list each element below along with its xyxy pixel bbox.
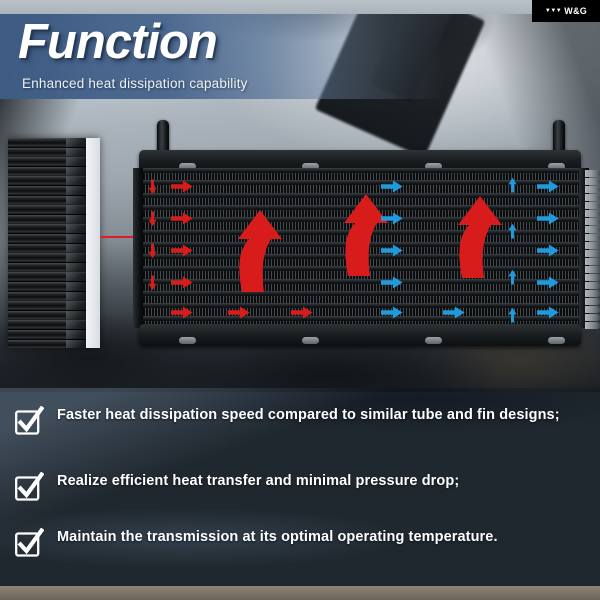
hot-flow-right-arrow [171,306,193,319]
external-fin-tooth [585,250,600,257]
bottom-tan-strip [0,586,600,600]
external-fin-tooth [585,258,600,265]
check-square-icon [14,528,44,558]
hot-air-rising-arrow [453,192,507,278]
top-grey-strip [0,0,600,14]
cool-flow-right-arrow [537,276,559,289]
cool-flow-up-arrow [502,178,524,193]
benefit-text: Faster heat dissipation speed compared t… [57,404,560,425]
bottom-mounting-bracket [139,324,581,346]
external-fin-tooth [585,322,600,329]
inlet-port [157,120,169,154]
cool-flow-right-arrow [381,306,403,319]
benefit-item: Realize efficient heat transfer and mini… [0,470,459,502]
cool-flow-up-arrow [502,270,524,285]
outlet-port [553,120,565,154]
hot-flow-down-arrow [142,276,164,291]
external-fin-tooth [585,298,600,305]
external-fin-tooth [585,274,600,281]
hot-flow-down-arrow [142,212,164,227]
page-subtitle: Enhanced heat dissipation capability [22,76,248,91]
external-fin-tooth [585,202,600,209]
bracket-mounting-slot [179,337,196,344]
hot-flow-right-arrow [171,212,193,225]
cool-flow-right-arrow [381,244,403,257]
marketing-image: Function Enhanced heat dissipation capab… [0,0,600,600]
cool-flow-right-arrow [537,244,559,257]
external-fin-tooth [585,226,600,233]
cool-flow-right-arrow [537,180,559,193]
brand-logo: ▼▼▼ W&G [532,0,600,22]
external-fin-tooth [585,242,600,249]
bracket-mounting-slot [425,337,442,344]
transmission-oil-cooler [133,128,589,368]
external-fin-tooth [585,266,600,273]
hot-air-rising-arrow [233,206,287,292]
cool-flow-right-arrow [381,276,403,289]
fin-inset-edge [86,138,100,348]
external-fin-tooth [585,282,600,289]
check-square-icon [14,406,44,436]
benefit-text: Maintain the transmission at its optimal… [57,526,498,547]
bracket-mounting-slot [302,337,319,344]
external-fin-tooth [585,314,600,321]
external-fin-tooth [585,234,600,241]
cool-flow-right-arrow [537,212,559,225]
cool-flow-right-arrow [443,306,465,319]
external-fin-tooth [585,218,600,225]
external-fin-tooth [585,210,600,217]
cool-flow-up-arrow [502,308,524,323]
cool-flow-right-arrow [381,180,403,193]
hot-air-rising-arrow [339,190,393,276]
hot-flow-right-arrow [171,276,193,289]
external-fin-tooth [585,290,600,297]
benefit-text: Realize efficient heat transfer and mini… [57,470,459,491]
benefit-item: Maintain the transmission at its optimal… [0,526,498,558]
hot-flow-right-arrow [171,244,193,257]
external-fin-tooth [585,178,600,185]
benefit-item: Faster heat dissipation speed compared t… [0,404,560,436]
hot-flow-right-arrow [228,306,250,319]
logo-mark-icon: ▼▼▼ [545,8,561,14]
external-fin-tooth [585,170,600,177]
cool-flow-right-arrow [537,306,559,319]
brand-name: W&G [564,7,587,16]
hot-flow-down-arrow [142,244,164,259]
external-fin-tooth [585,194,600,201]
benefits-panel: Faster heat dissipation speed compared t… [0,388,600,600]
external-fin-tooth [585,186,600,193]
hot-flow-right-arrow [291,306,313,319]
bracket-mounting-slot [548,337,565,344]
external-fin-tooth [585,306,600,313]
page-title: Function [18,14,217,70]
check-square-icon [14,472,44,502]
hot-flow-right-arrow [171,180,193,193]
hot-flow-down-arrow [142,180,164,195]
cool-flow-right-arrow [381,212,403,225]
cool-flow-up-arrow [502,224,524,239]
